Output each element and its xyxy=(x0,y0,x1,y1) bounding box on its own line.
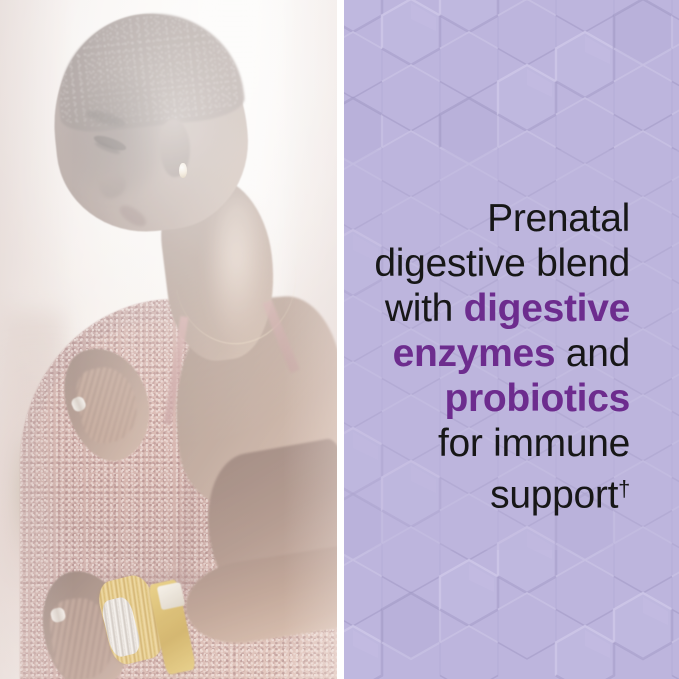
headline-line-2: digestive blend xyxy=(374,242,630,285)
footnote-dagger-marker: † xyxy=(618,476,630,501)
headline-line-6: for immune xyxy=(438,422,630,465)
product-lifestyle-photo xyxy=(0,0,337,679)
headline-line-4-plain: and xyxy=(555,332,630,375)
ad-canvas: Prenatal digestive blend with digestive … xyxy=(0,0,679,679)
headline-accent-digestive: digestive xyxy=(464,287,630,330)
panel-divider-gap xyxy=(337,0,344,679)
headline-accent-enzymes: enzymes xyxy=(393,332,556,375)
headline-block: Prenatal digestive blend with digestive … xyxy=(344,0,679,679)
headline-line-7: support xyxy=(490,473,618,516)
photo-stage xyxy=(0,0,337,679)
headline-line-1: Prenatal xyxy=(487,197,630,240)
headline-line-3-plain: with xyxy=(385,287,464,330)
headline-text: Prenatal digestive blend with digestive … xyxy=(354,196,630,517)
earring xyxy=(179,163,186,178)
headline-panel: Prenatal digestive blend with digestive … xyxy=(344,0,679,679)
headline-accent-probiotics: probiotics xyxy=(444,377,630,420)
